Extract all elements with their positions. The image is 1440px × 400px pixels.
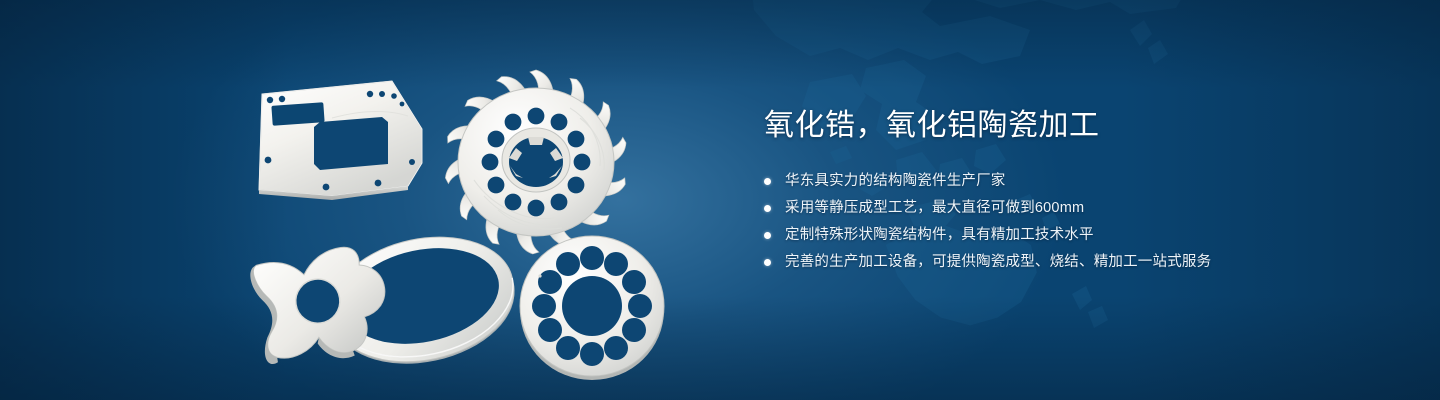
bullet-dot-icon <box>764 232 771 239</box>
list-item-label: 完善的生产加工设备，可提供陶瓷成型、烧结、精加工一站式服务 <box>785 254 1211 270</box>
bullet-dot-icon <box>764 178 771 185</box>
feature-list: 华东具实力的结构陶瓷件生产厂家 采用等静压成型工艺，最大直径可做到600mm 定… <box>764 170 1384 273</box>
bullet-dot-icon <box>764 205 771 212</box>
list-item: 采用等静压成型工艺，最大直径可做到600mm <box>764 197 1384 219</box>
ceramic-products-photo <box>236 34 676 394</box>
list-item-label: 华东具实力的结构陶瓷件生产厂家 <box>785 173 1006 189</box>
banner-copy: 氧化锆，氧化铝陶瓷加工 华东具实力的结构陶瓷件生产厂家 采用等静压成型工艺，最大… <box>764 106 1384 278</box>
list-item: 定制特殊形状陶瓷结构件，具有精加工技术水平 <box>764 224 1384 246</box>
list-item-label: 采用等静压成型工艺，最大直径可做到600mm <box>785 200 1084 216</box>
hero-banner: 氧化锆，氧化铝陶瓷加工 华东具实力的结构陶瓷件生产厂家 采用等静压成型工艺，最大… <box>0 0 1440 400</box>
list-item-label: 定制特殊形状陶瓷结构件，具有精加工技术水平 <box>785 227 1094 243</box>
list-item: 完善的生产加工设备，可提供陶瓷成型、烧结、精加工一站式服务 <box>764 251 1384 273</box>
ceramic-perforated-disc <box>520 236 664 380</box>
ceramic-plate-with-cutouts <box>259 81 422 200</box>
ceramic-impeller-rotor <box>442 70 629 254</box>
page-title: 氧化锆，氧化铝陶瓷加工 <box>764 106 1384 146</box>
list-item: 华东具实力的结构陶瓷件生产厂家 <box>764 170 1384 192</box>
bullet-dot-icon <box>764 259 771 266</box>
